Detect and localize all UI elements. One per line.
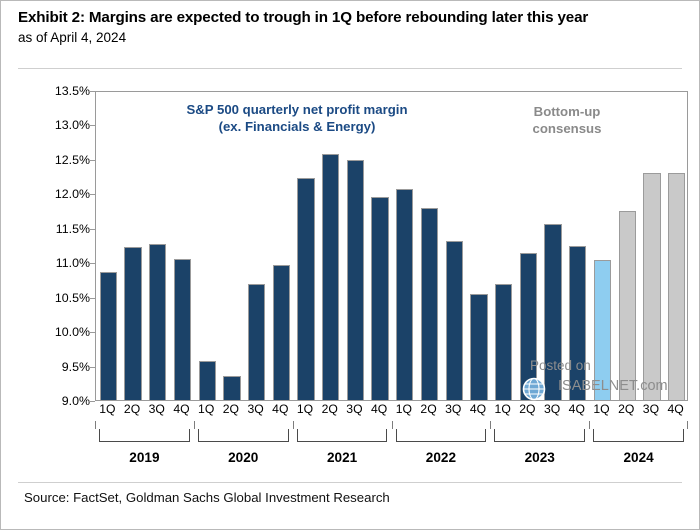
x-axis-group-tick xyxy=(589,421,590,429)
y-axis-tick-label: 12.0% xyxy=(55,187,90,201)
x-axis-quarter-label: 3Q xyxy=(544,402,560,416)
consensus-annotation: Bottom-up consensus xyxy=(507,104,627,137)
x-axis-quarter-label: 4Q xyxy=(668,402,684,416)
year-brackets xyxy=(95,429,688,449)
consensus-annotation-line1: Bottom-up xyxy=(507,104,627,121)
y-axis-tick-label: 10.0% xyxy=(55,325,90,339)
bar-2024-3Q xyxy=(643,173,660,400)
x-axis-quarter-label: 4Q xyxy=(569,402,585,416)
year-bracket-2020 xyxy=(198,429,289,442)
bar-2020-4Q xyxy=(273,265,290,400)
y-axis-tick-label: 11.5% xyxy=(56,222,90,236)
bar-2023-2Q xyxy=(520,253,537,400)
bar-2022-4Q xyxy=(470,294,487,400)
year-bracket-2019 xyxy=(99,429,190,442)
source-note: Source: FactSet, Goldman Sachs Global In… xyxy=(24,490,390,505)
x-axis-quarter-label: 1Q xyxy=(593,402,609,416)
bar-2019-3Q xyxy=(149,244,166,400)
bar-2022-2Q xyxy=(421,208,438,400)
bar-2019-2Q xyxy=(124,247,141,400)
consensus-annotation-line2: consensus xyxy=(507,121,627,138)
series-annotation: S&P 500 quarterly net profit margin (ex.… xyxy=(132,102,462,136)
y-axis-labels: 13.5%13.0%12.5%12.0%11.5%11.0%10.5%10.0%… xyxy=(33,91,90,401)
series-annotation-line1: S&P 500 quarterly net profit margin xyxy=(132,102,462,119)
x-axis-group-tick xyxy=(687,421,688,429)
x-axis-quarter-label: 1Q xyxy=(99,402,115,416)
year-bracket-2023 xyxy=(494,429,585,442)
x-axis-group-tick xyxy=(490,421,491,429)
y-axis-tick-label: 13.0% xyxy=(55,118,90,132)
x-axis-quarter-label: 1Q xyxy=(297,402,313,416)
x-axis-quarter-label: 3Q xyxy=(346,402,362,416)
bar-2023-1Q xyxy=(495,284,512,400)
x-axis-year-label: 2020 xyxy=(228,450,258,465)
x-axis-year-label: 2023 xyxy=(525,450,555,465)
x-axis-group-tick xyxy=(392,421,393,429)
bar-2022-3Q xyxy=(446,241,463,400)
bar-2023-4Q xyxy=(569,246,586,400)
x-axis-quarter-label: 2Q xyxy=(124,402,140,416)
y-axis-tick-label: 9.5% xyxy=(62,360,90,374)
bar-2024-2Q xyxy=(619,211,636,400)
x-axis-quarter-label: 1Q xyxy=(198,402,214,416)
x-axis-quarter-label: 3Q xyxy=(445,402,461,416)
x-axis-group-tick xyxy=(293,421,294,429)
chart-area: 13.5%13.0%12.5%12.0%11.5%11.0%10.5%10.0%… xyxy=(0,0,700,530)
bar-2023-3Q xyxy=(544,224,561,400)
bar-2022-1Q xyxy=(396,189,413,400)
x-axis-quarter-label: 4Q xyxy=(470,402,486,416)
x-axis-quarter-label: 3Q xyxy=(149,402,165,416)
y-axis-tick-label: 9.0% xyxy=(62,394,90,408)
x-axis-year-labels: 201920202021202220232024 xyxy=(95,450,688,472)
x-axis-quarter-label: 2Q xyxy=(322,402,338,416)
x-axis-quarter-label: 3Q xyxy=(643,402,659,416)
footer-divider xyxy=(18,482,682,483)
x-axis-year-label: 2019 xyxy=(129,450,159,465)
bar-2021-2Q xyxy=(322,154,339,400)
x-axis-quarter-label: 4Q xyxy=(371,402,387,416)
bar-2019-4Q xyxy=(174,259,191,400)
year-bracket-2021 xyxy=(297,429,388,442)
y-axis-tick-label: 11.0% xyxy=(56,256,90,270)
x-axis-quarter-label: 4Q xyxy=(173,402,189,416)
x-axis-year-label: 2022 xyxy=(426,450,456,465)
bar-2019-1Q xyxy=(100,272,117,400)
y-axis-tick-label: 10.5% xyxy=(55,291,90,305)
y-axis-tick-label: 13.5% xyxy=(55,84,90,98)
bar-2020-1Q xyxy=(199,361,216,400)
x-axis-year-label: 2024 xyxy=(623,450,653,465)
x-axis-quarter-label: 1Q xyxy=(495,402,511,416)
x-axis-ticks xyxy=(95,421,688,429)
bar-2021-1Q xyxy=(297,178,314,400)
x-axis-year-label: 2021 xyxy=(327,450,357,465)
bar-series xyxy=(96,92,687,400)
x-axis-quarter-labels: 1Q2Q3Q4Q1Q2Q3Q4Q1Q2Q3Q4Q1Q2Q3Q4Q1Q2Q3Q4Q… xyxy=(95,402,688,422)
x-axis-group-tick xyxy=(194,421,195,429)
x-axis-quarter-label: 2Q xyxy=(618,402,634,416)
x-axis-quarter-label: 2Q xyxy=(223,402,239,416)
plot-region: S&P 500 quarterly net profit margin (ex.… xyxy=(95,91,688,401)
x-axis-group-tick xyxy=(95,421,96,429)
x-axis-quarter-label: 4Q xyxy=(272,402,288,416)
x-axis-quarter-label: 3Q xyxy=(247,402,263,416)
year-bracket-2022 xyxy=(396,429,487,442)
x-axis-quarter-label: 1Q xyxy=(396,402,412,416)
bar-2024-1Q xyxy=(594,260,611,400)
bar-2020-2Q xyxy=(223,376,240,400)
bar-2021-4Q xyxy=(371,197,388,400)
year-bracket-2024 xyxy=(593,429,684,442)
bar-2020-3Q xyxy=(248,284,265,400)
x-axis-quarter-label: 2Q xyxy=(420,402,436,416)
bar-2024-4Q xyxy=(668,173,685,400)
x-axis-quarter-label: 2Q xyxy=(519,402,535,416)
series-annotation-line2: (ex. Financials & Energy) xyxy=(132,119,462,136)
bar-2021-3Q xyxy=(347,160,364,400)
y-axis-tick-label: 12.5% xyxy=(55,153,90,167)
